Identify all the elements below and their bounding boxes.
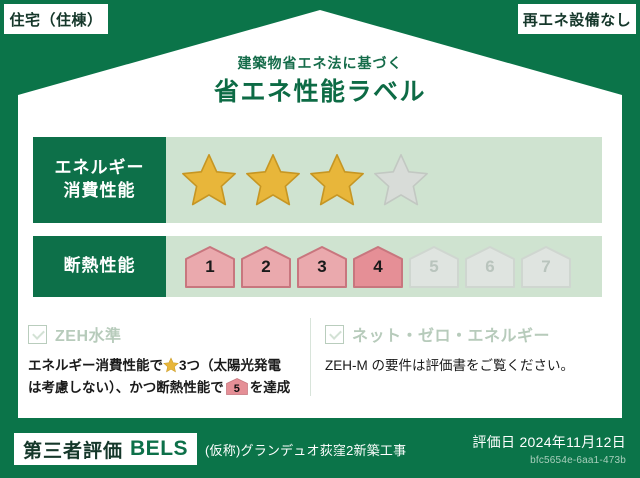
insulation-level-label: 5	[408, 257, 460, 277]
evaluation-id: bfc5654e-6aa1-473b	[472, 455, 626, 466]
energy-performance-row: エネルギー 消費性能	[33, 137, 602, 223]
bels-badge-label: 第三者評価	[23, 436, 123, 463]
insulation-level-4: 4	[352, 245, 404, 289]
insulation-level-7: 7	[520, 245, 572, 289]
criteria-zeh-description: エネルギー消費性能で3つ（太陽光発電 は考慮しない）、かつ断熱性能で5を達成	[28, 355, 313, 398]
zeh-text-part3: は考慮しない）、かつ断熱性能で	[28, 380, 224, 395]
title-subtitle: 建築物省エネ法に基づく	[0, 55, 640, 72]
criteria-zeh-title: ZEH水準	[55, 322, 122, 346]
insulation-badge-value: 5	[226, 381, 248, 399]
star-rating	[180, 152, 430, 208]
criteria-zeh-header: ZEH水準	[28, 322, 313, 346]
insulation-level-1: 1	[184, 245, 236, 289]
zeh-text-part1: エネルギー消費性能で	[28, 358, 163, 373]
insulation-level-6: 6	[464, 245, 516, 289]
criteria-net-zero: ネット・ゼロ・エネルギー ZEH-M の要件は評価書をご覧ください。	[325, 322, 610, 377]
label-footer: 第三者評価 BELS (仮称)グランデュオ荻窪2新築工事 評価日 2024年11…	[0, 420, 640, 478]
criteria-net-zero-description: ZEH-M の要件は評価書をご覧ください。	[325, 355, 610, 377]
star-icon-filled	[244, 152, 302, 208]
insulation-level-label: 3	[296, 257, 348, 277]
property-name: (仮称)グランデュオ荻窪2新築工事	[205, 440, 406, 459]
energy-performance-key: エネルギー 消費性能	[33, 137, 166, 223]
criteria-net-zero-header: ネット・ゼロ・エネルギー	[325, 322, 610, 346]
zeh-text-part2: 3つ（太陽光発電	[179, 358, 281, 373]
energy-key-line1: エネルギー	[55, 157, 145, 180]
energy-performance-label: 住宅（住棟） 再エネ設備なし 建築物省エネ法に基づく 省エネ性能ラベル エネルギ…	[0, 0, 640, 478]
insulation-level-label: 6	[464, 257, 516, 277]
insulation-level-scale: 1234567	[180, 245, 572, 289]
insulation-level-label: 1	[184, 257, 236, 277]
bels-badge: 第三者評価 BELS	[14, 433, 197, 465]
bels-badge-mark: BELS	[130, 437, 188, 461]
star-icon-filled	[308, 152, 366, 208]
footer-meta: 評価日 2024年11月12日 bfc5654e-6aa1-473b	[472, 432, 626, 466]
star-icon-empty	[372, 152, 430, 208]
star-icon	[163, 357, 179, 373]
zeh-text-part4: を達成	[250, 380, 291, 395]
star-icon-filled	[180, 152, 238, 208]
criteria-net-zero-title: ネット・ゼロ・エネルギー	[352, 322, 550, 346]
insulation-level-2: 2	[240, 245, 292, 289]
check-box-icon	[325, 325, 344, 344]
evaluation-date: 評価日 2024年11月12日	[472, 432, 626, 452]
criteria-zeh: ZEH水準 エネルギー消費性能で3つ（太陽光発電 は考慮しない）、かつ断熱性能で…	[28, 322, 313, 398]
check-box-icon	[28, 325, 47, 344]
building-type-tag: 住宅（住棟）	[4, 4, 108, 34]
insulation-key-line1: 断熱性能	[64, 255, 136, 278]
insulation-badge-icon: 5	[226, 378, 248, 395]
insulation-level-3: 3	[296, 245, 348, 289]
insulation-level-5: 5	[408, 245, 460, 289]
page-title: 省エネ性能ラベル	[0, 77, 640, 107]
insulation-performance-key: 断熱性能	[33, 236, 166, 297]
energy-performance-value	[166, 137, 602, 223]
insulation-performance-value: 1234567	[166, 236, 602, 297]
label-title-block: 建築物省エネ法に基づく 省エネ性能ラベル	[0, 55, 640, 107]
insulation-level-label: 2	[240, 257, 292, 277]
energy-key-line2: 消費性能	[64, 180, 136, 203]
insulation-level-label: 7	[520, 257, 572, 277]
insulation-level-label: 4	[352, 257, 404, 277]
insulation-performance-row: 断熱性能 1234567	[33, 236, 602, 297]
renewable-energy-tag: 再エネ設備なし	[518, 4, 636, 34]
